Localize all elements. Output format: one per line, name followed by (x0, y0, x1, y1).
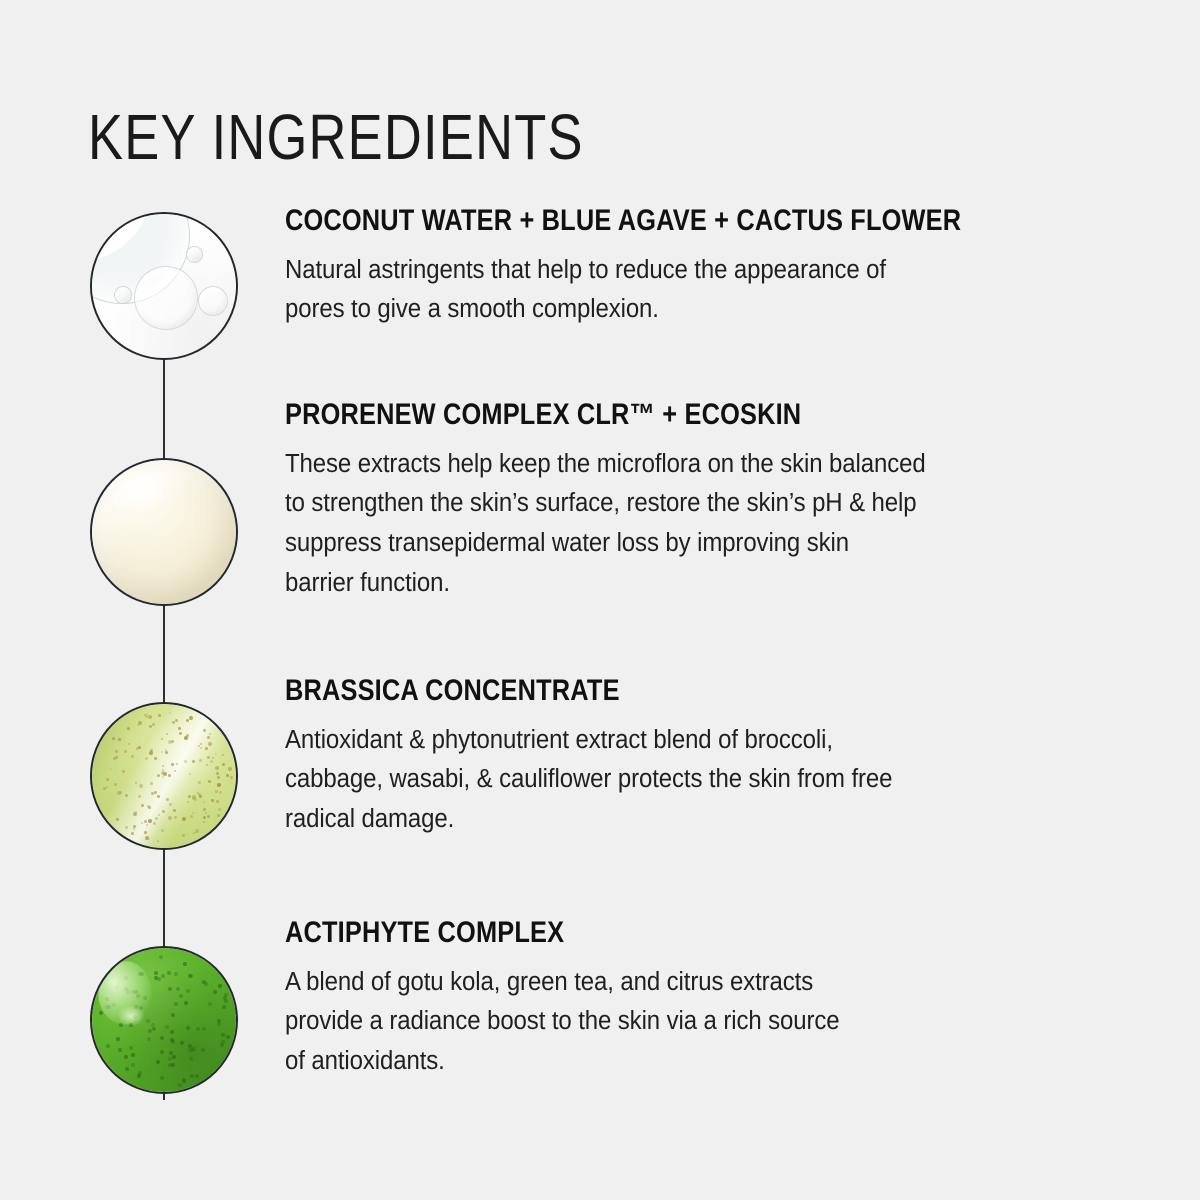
speckle (152, 1027, 156, 1031)
description-line: These extracts help keep the microflora … (285, 445, 1075, 485)
speckle (116, 818, 119, 821)
gold-speckle-layer (92, 704, 236, 848)
ingredient-item: COCONUT WATER + BLUE AGAVE + CACTUS FLOW… (285, 206, 1125, 330)
speckle (149, 751, 153, 755)
speckle (173, 809, 176, 812)
speckle (188, 795, 191, 798)
speckle (125, 794, 128, 797)
speckle (118, 1048, 122, 1052)
speckle (161, 974, 165, 978)
speckle (167, 971, 171, 975)
description-line: radical damage. (285, 800, 1075, 840)
speckle (203, 821, 205, 823)
speckle (144, 714, 146, 716)
speckle (146, 713, 148, 715)
speckle (202, 980, 206, 984)
speckle (188, 974, 192, 978)
speckle (110, 768, 112, 770)
green-gel-texture (92, 948, 236, 1092)
speckle (230, 776, 233, 779)
speckle (165, 1025, 169, 1029)
speckle (184, 1001, 188, 1005)
speckle (186, 719, 189, 722)
speckle (182, 1079, 186, 1083)
speckle (211, 799, 214, 802)
speckle (190, 1048, 194, 1052)
speckle (131, 832, 134, 835)
speckle (195, 829, 199, 833)
speckle (166, 798, 169, 801)
speckle (215, 790, 218, 793)
description-line: pores to give a smooth complexion. (285, 290, 1075, 330)
speckle (113, 757, 116, 760)
speckle (124, 750, 127, 753)
speckle (195, 1074, 199, 1078)
speckle (154, 791, 157, 794)
speckle (189, 773, 191, 775)
speckle (122, 770, 125, 773)
speckle (174, 972, 178, 976)
ingredient-name: COCONUT WATER + BLUE AGAVE + CACTUS FLOW… (285, 206, 1007, 237)
speckle (148, 819, 152, 823)
speckle (133, 828, 135, 830)
speckle (187, 801, 189, 803)
speckle (217, 1022, 221, 1026)
speckle (158, 814, 160, 816)
bubble-tiny (186, 246, 203, 263)
speckle (160, 1036, 164, 1040)
speckle (212, 757, 214, 759)
speckle (199, 795, 202, 798)
speckle (222, 754, 224, 756)
ingredient-item: ACTIPHYTE COMPLEX A blend of gotu kola, … (285, 918, 1125, 1082)
speckle (208, 742, 212, 746)
speckle (222, 763, 225, 766)
speckle (182, 817, 186, 821)
speckle (115, 750, 118, 753)
speckle (172, 721, 175, 724)
speckle (196, 1027, 200, 1031)
speckle (200, 747, 202, 749)
speckle (226, 1035, 230, 1039)
speckle (152, 723, 155, 726)
speckle (203, 808, 206, 811)
speckle (131, 1063, 135, 1067)
speckle (141, 804, 144, 807)
speckle (184, 736, 188, 740)
speckle (197, 792, 199, 794)
speckle (203, 729, 206, 732)
ivory-cream-swatch (90, 458, 238, 606)
speckle (218, 808, 221, 811)
speckle (180, 1041, 184, 1045)
speckle (147, 1037, 151, 1041)
speckle (200, 743, 202, 745)
speckle (217, 776, 220, 779)
speckle (176, 987, 180, 991)
speckle (201, 1048, 205, 1052)
water-gel-texture (92, 214, 236, 358)
speckle (118, 738, 121, 741)
description-line: provide a radiance boost to the skin via… (285, 1002, 1075, 1042)
speckle (106, 778, 109, 781)
speckle (213, 990, 217, 994)
speckle (192, 760, 195, 763)
description-line: Antioxidant & phytonutrient extract blen… (285, 721, 1075, 761)
speckle (148, 715, 152, 719)
ingredient-name: ACTIPHYTE COMPLEX (285, 918, 1007, 949)
cream-gloss-highlight (108, 462, 194, 522)
speckle (178, 1083, 182, 1087)
page-title: KEY INGREDIENTS (88, 105, 584, 169)
speckle (128, 743, 130, 745)
speckle (179, 994, 183, 998)
speckle (215, 753, 217, 755)
speckle (169, 712, 171, 714)
key-ingredients-panel: KEY INGREDIENTS (0, 0, 1200, 1200)
speckle (116, 1037, 120, 1041)
speckle (207, 756, 210, 759)
speckle (162, 810, 165, 813)
speckle (161, 829, 164, 832)
speckle (182, 834, 185, 837)
speckle (131, 755, 134, 758)
speckle (228, 767, 232, 771)
speckle (138, 1071, 142, 1075)
bubble-mini (114, 286, 132, 304)
description-line: suppress transepidermal water loss by im… (285, 524, 1075, 564)
speckle (150, 782, 153, 785)
speckle (210, 760, 213, 763)
cream-texture (92, 460, 236, 604)
speckle (207, 815, 210, 818)
speckle (138, 746, 141, 749)
ingredient-name: PRORENEW COMPLEX CLR™ + ECOSKIN (285, 400, 1007, 431)
speckle (224, 999, 228, 1003)
speckle (203, 816, 206, 819)
speckle (205, 812, 207, 814)
speckle (179, 732, 182, 735)
speckle (216, 772, 219, 775)
speckle (168, 816, 172, 820)
speckle (168, 774, 171, 777)
speckle (208, 1002, 212, 1006)
speckle (222, 1005, 226, 1009)
speckle (183, 962, 187, 966)
clear-water-gel-swatch (90, 212, 238, 360)
speckle (103, 787, 106, 790)
speckle (176, 763, 178, 765)
speckle (154, 971, 158, 975)
speckle (151, 792, 154, 795)
speckle (202, 1027, 206, 1031)
speckle (131, 1053, 135, 1057)
speckle (162, 769, 164, 771)
speckle (157, 840, 159, 842)
speckle (145, 757, 148, 760)
vivid-green-gel-swatch (90, 946, 238, 1094)
speckle (169, 1051, 173, 1055)
speckle (192, 812, 194, 814)
speckle (192, 795, 196, 799)
speckle (174, 770, 176, 772)
speckle (171, 763, 174, 766)
speckle (159, 955, 163, 959)
ingredient-item: BRASSICA CONCENTRATE Antioxidant & phyto… (285, 676, 1125, 840)
speckle (203, 801, 205, 803)
bubble-small (198, 286, 228, 316)
ingredient-swatch-rail (88, 212, 240, 1100)
speckle (125, 826, 128, 829)
speckle (184, 760, 187, 763)
ingredient-description: Natural astringents that help to reduce … (285, 251, 1075, 330)
speckle (138, 795, 141, 798)
speckle (141, 822, 143, 824)
description-line: Natural astringents that help to reduce … (285, 251, 1075, 291)
speckle (129, 1046, 133, 1050)
speckle (162, 776, 164, 778)
speckle (224, 993, 228, 997)
speckle (216, 800, 219, 803)
speckle (221, 1033, 225, 1037)
speckle (226, 774, 229, 777)
speckle (135, 782, 137, 784)
speckle (186, 734, 189, 737)
speckle (119, 791, 122, 794)
description-line: barrier function. (285, 564, 1075, 604)
speckle (166, 733, 168, 735)
speckle (219, 791, 222, 794)
speckle (190, 1074, 194, 1078)
speckle (174, 816, 177, 819)
bubble-large (134, 266, 198, 330)
speckle (155, 817, 158, 820)
speckle (190, 815, 193, 818)
speckle (175, 719, 178, 722)
speckle (171, 1013, 175, 1017)
speckle (144, 831, 147, 834)
speckle (162, 765, 164, 767)
speckle (169, 803, 172, 806)
speckle (205, 747, 208, 750)
speckle (156, 1060, 160, 1064)
speckle (157, 795, 160, 798)
speckle (154, 757, 157, 760)
speckle (168, 1057, 172, 1061)
speckle (160, 1050, 164, 1054)
speckle (170, 1038, 174, 1042)
light-green-speckled-swatch (90, 702, 238, 850)
ingredient-description: Antioxidant & phytonutrient extract blen… (285, 721, 1075, 840)
speckle (174, 1002, 178, 1006)
speckle (217, 783, 221, 787)
speckle (146, 1019, 150, 1023)
speckle (163, 772, 167, 776)
speckle (199, 759, 202, 762)
speckle (106, 786, 108, 788)
speckle (160, 1076, 164, 1080)
speckle (148, 1029, 152, 1033)
ingredient-description: These extracts help keep the microflora … (285, 445, 1075, 603)
description-line: cabbage, wasabi, & cauliflower protects … (285, 760, 1075, 800)
speckle (221, 1040, 225, 1044)
speckle (114, 783, 117, 786)
speckle (157, 774, 160, 777)
speckle (209, 733, 211, 735)
green-gloss-highlight-secondary (118, 1006, 144, 1026)
ingredient-description: A blend of gotu kola, green tea, and cit… (285, 963, 1075, 1082)
speckle (193, 832, 195, 834)
speckle (171, 740, 174, 743)
speckle (215, 766, 219, 770)
speckle (208, 780, 211, 783)
description-line: A blend of gotu kola, green tea, and cit… (285, 963, 1075, 1003)
speckle (206, 764, 208, 766)
speckle (171, 1063, 175, 1067)
speckle (161, 738, 163, 740)
speckle (170, 1030, 174, 1034)
speckle (144, 820, 147, 823)
description-line: to strengthen the skin’s surface, restor… (285, 484, 1075, 524)
speckle (161, 751, 163, 753)
brassica-texture (92, 704, 236, 848)
speckle (189, 1057, 193, 1061)
speckle (186, 1026, 190, 1030)
speckle (153, 822, 156, 825)
speckle (127, 727, 130, 730)
ingredient-item: PRORENEW COMPLEX CLR™ + ECOSKIN These ex… (285, 400, 1125, 603)
speckle (135, 811, 137, 813)
speckle (165, 751, 168, 754)
speckle (207, 736, 210, 739)
speckle (198, 781, 201, 784)
speckle (139, 784, 143, 788)
speckle (158, 714, 161, 717)
speckle (106, 1044, 110, 1048)
speckle (124, 1055, 128, 1059)
description-line: of antioxidants. (285, 1042, 1075, 1082)
speckle (172, 1055, 176, 1059)
speckle (186, 989, 190, 993)
speckle (148, 806, 151, 809)
speckle (189, 716, 193, 720)
speckle (218, 984, 222, 988)
speckle (112, 737, 115, 740)
speckle (125, 1067, 129, 1071)
speckle (217, 814, 220, 817)
speckle (146, 824, 148, 826)
speckle (168, 987, 172, 991)
ingredient-name: BRASSICA CONCENTRATE (285, 676, 1007, 707)
speckle (178, 727, 181, 730)
speckle (137, 724, 139, 726)
